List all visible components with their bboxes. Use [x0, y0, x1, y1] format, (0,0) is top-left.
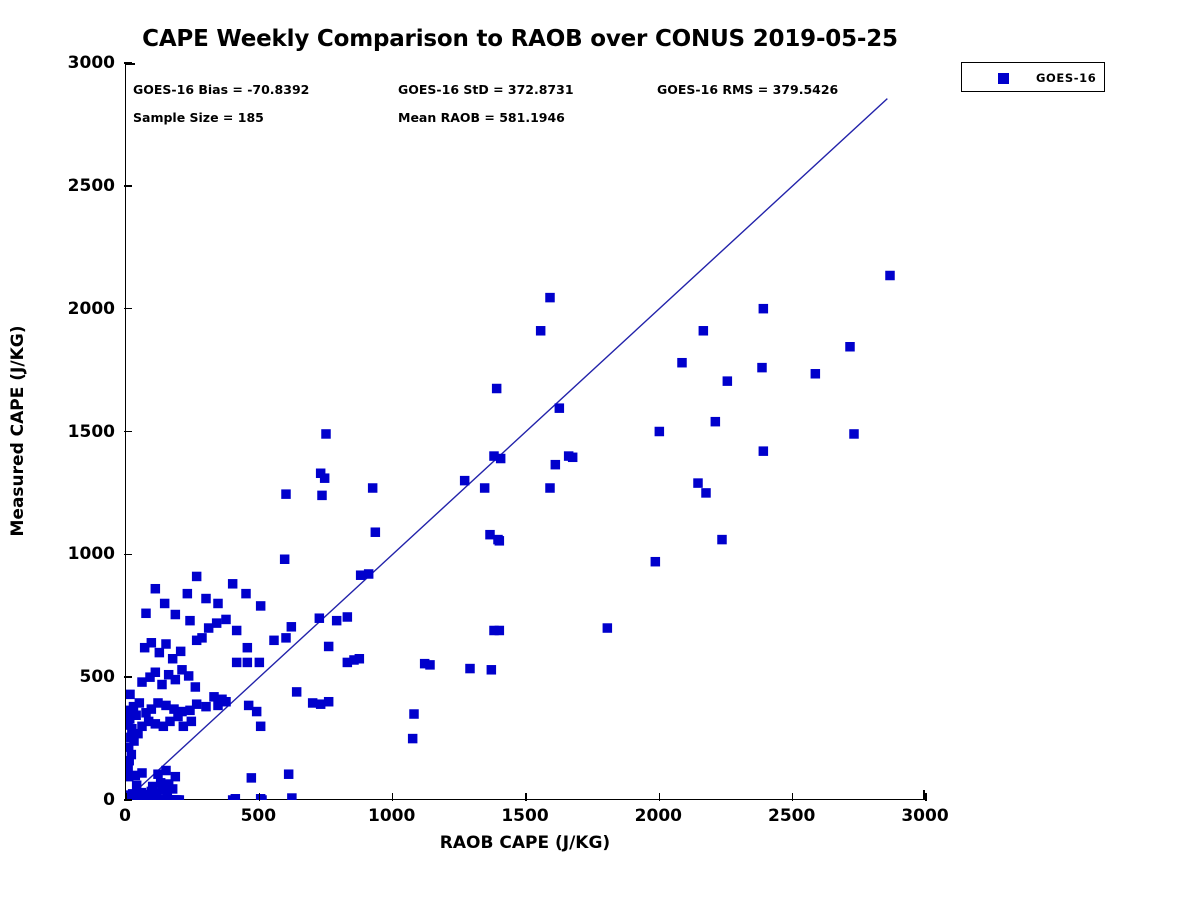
stat-sample-size: Sample Size = 185 — [133, 110, 264, 125]
x-tick-mark — [659, 793, 661, 801]
data-point — [126, 690, 135, 700]
data-point — [183, 589, 193, 599]
data-point — [757, 363, 767, 373]
data-point — [137, 768, 147, 778]
x-tick-mark — [525, 793, 527, 801]
stat-bias: GOES-16 Bias = -70.8392 — [133, 82, 309, 97]
scatter-plot-svg — [126, 63, 926, 800]
legend-item-label: GOES-16 — [1036, 71, 1096, 85]
stat-rms: GOES-16 RMS = 379.5426 — [657, 82, 838, 97]
data-point — [811, 369, 821, 379]
data-point — [157, 680, 167, 690]
data-point — [228, 579, 238, 589]
data-point — [171, 675, 181, 685]
data-point — [651, 557, 661, 567]
data-point — [201, 594, 211, 604]
data-point — [184, 671, 194, 681]
data-point — [495, 626, 505, 636]
data-point — [151, 668, 161, 678]
data-point — [191, 682, 201, 692]
data-point — [759, 446, 769, 456]
data-point — [232, 626, 242, 636]
data-point — [711, 417, 721, 427]
x-tick-label: 0 — [119, 806, 131, 826]
data-point — [355, 654, 365, 664]
legend-marker-icon — [998, 73, 1009, 84]
data-point — [408, 734, 418, 744]
data-point — [287, 793, 297, 800]
data-point — [480, 483, 490, 493]
y-tick-label: 2500 — [40, 176, 115, 196]
y-tick-label: 1500 — [40, 422, 115, 442]
data-point — [147, 638, 157, 648]
axis-corner-tip-top — [125, 63, 135, 65]
x-tick-mark — [392, 793, 394, 801]
data-point — [603, 623, 613, 633]
data-point — [175, 795, 185, 800]
data-point — [256, 722, 266, 732]
data-point — [371, 527, 381, 537]
data-point — [171, 772, 181, 782]
data-point — [141, 609, 151, 619]
data-point — [247, 773, 257, 783]
y-tick-label: 500 — [40, 667, 115, 687]
data-point — [324, 697, 334, 707]
data-point — [192, 699, 202, 709]
data-point — [185, 616, 195, 626]
data-point — [232, 658, 242, 668]
data-point — [492, 384, 502, 394]
data-point — [161, 639, 171, 649]
data-point — [332, 616, 342, 626]
data-point — [545, 483, 555, 493]
x-tick-mark — [792, 793, 794, 801]
x-tick-mark — [925, 793, 927, 801]
data-point — [317, 491, 327, 501]
data-point — [723, 376, 733, 386]
data-point — [151, 584, 161, 594]
data-point — [759, 304, 769, 314]
y-tick-label: 3000 — [40, 53, 115, 73]
data-point — [551, 460, 561, 470]
data-point — [132, 781, 142, 791]
data-point — [564, 451, 574, 461]
y-tick-mark — [124, 676, 132, 678]
data-point — [192, 572, 202, 582]
one-to-one-reference-line — [141, 99, 888, 787]
data-point — [217, 695, 227, 705]
y-tick-mark — [124, 554, 132, 556]
data-point — [320, 473, 330, 483]
data-point — [343, 612, 353, 622]
data-point — [536, 326, 546, 336]
data-point — [161, 766, 171, 776]
data-point — [212, 618, 222, 628]
data-point — [287, 622, 297, 632]
x-tick-label: 1500 — [501, 806, 548, 826]
data-point — [693, 478, 703, 488]
data-point — [425, 660, 435, 670]
data-point — [280, 554, 290, 564]
data-point — [545, 293, 555, 303]
y-tick-label: 0 — [40, 790, 115, 810]
data-point — [243, 643, 253, 653]
data-point — [228, 795, 238, 800]
data-point — [256, 601, 266, 611]
x-axis-label: RAOB CAPE (J/KG) — [125, 833, 925, 853]
data-point — [269, 636, 279, 646]
x-tick-label: 3000 — [901, 806, 948, 826]
data-point — [155, 648, 165, 658]
y-tick-mark — [124, 185, 132, 187]
y-tick-mark — [124, 799, 132, 801]
x-tick-label: 2000 — [635, 806, 682, 826]
data-point — [701, 488, 711, 498]
data-point-group — [126, 271, 895, 800]
data-point — [555, 403, 565, 413]
x-tick-label: 1000 — [368, 806, 415, 826]
plot-area — [125, 63, 925, 800]
data-point — [487, 665, 497, 675]
data-point — [655, 427, 665, 437]
data-point — [176, 647, 186, 657]
data-point — [845, 342, 855, 352]
data-point — [281, 633, 291, 643]
data-point — [460, 476, 470, 486]
data-point — [364, 569, 374, 579]
figure-canvas: CAPE Weekly Comparison to RAOB over CONU… — [0, 0, 1200, 900]
data-point — [187, 717, 197, 727]
data-point — [495, 536, 505, 546]
x-tick-mark — [259, 793, 261, 801]
data-point — [465, 664, 475, 674]
y-tick-mark — [124, 431, 132, 433]
y-axis-label: Measured CAPE (J/KG) — [8, 326, 28, 537]
data-point — [849, 429, 859, 439]
data-point — [252, 707, 262, 717]
data-point — [284, 769, 294, 779]
data-point — [241, 589, 251, 599]
data-point — [213, 599, 223, 609]
x-tick-label: 2500 — [768, 806, 815, 826]
data-point — [409, 709, 419, 719]
data-point — [315, 613, 325, 623]
data-point — [171, 610, 181, 620]
data-point — [201, 702, 211, 712]
page-title: CAPE Weekly Comparison to RAOB over CONU… — [0, 26, 1040, 52]
x-tick-label: 500 — [241, 806, 277, 826]
data-point — [699, 326, 709, 336]
data-point — [496, 454, 506, 464]
data-point — [321, 429, 331, 439]
data-point — [243, 658, 253, 668]
legend-box[interactable]: GOES-16 — [961, 62, 1105, 92]
data-point — [885, 271, 895, 281]
data-point — [292, 687, 302, 697]
axis-corner-tip-right — [923, 790, 925, 800]
data-point — [368, 483, 378, 493]
y-tick-label: 2000 — [40, 299, 115, 319]
data-point — [281, 489, 291, 499]
y-tick-mark — [124, 308, 132, 310]
data-point — [197, 633, 207, 643]
data-point — [160, 599, 170, 609]
data-point — [135, 698, 145, 708]
data-point — [677, 358, 687, 368]
y-tick-label: 1000 — [40, 544, 115, 564]
data-point — [221, 615, 231, 625]
data-point — [717, 535, 727, 545]
stat-std: GOES-16 StD = 372.8731 — [398, 82, 574, 97]
data-point — [255, 658, 264, 668]
stat-mean-raob: Mean RAOB = 581.1946 — [398, 110, 565, 125]
data-point — [324, 642, 334, 652]
